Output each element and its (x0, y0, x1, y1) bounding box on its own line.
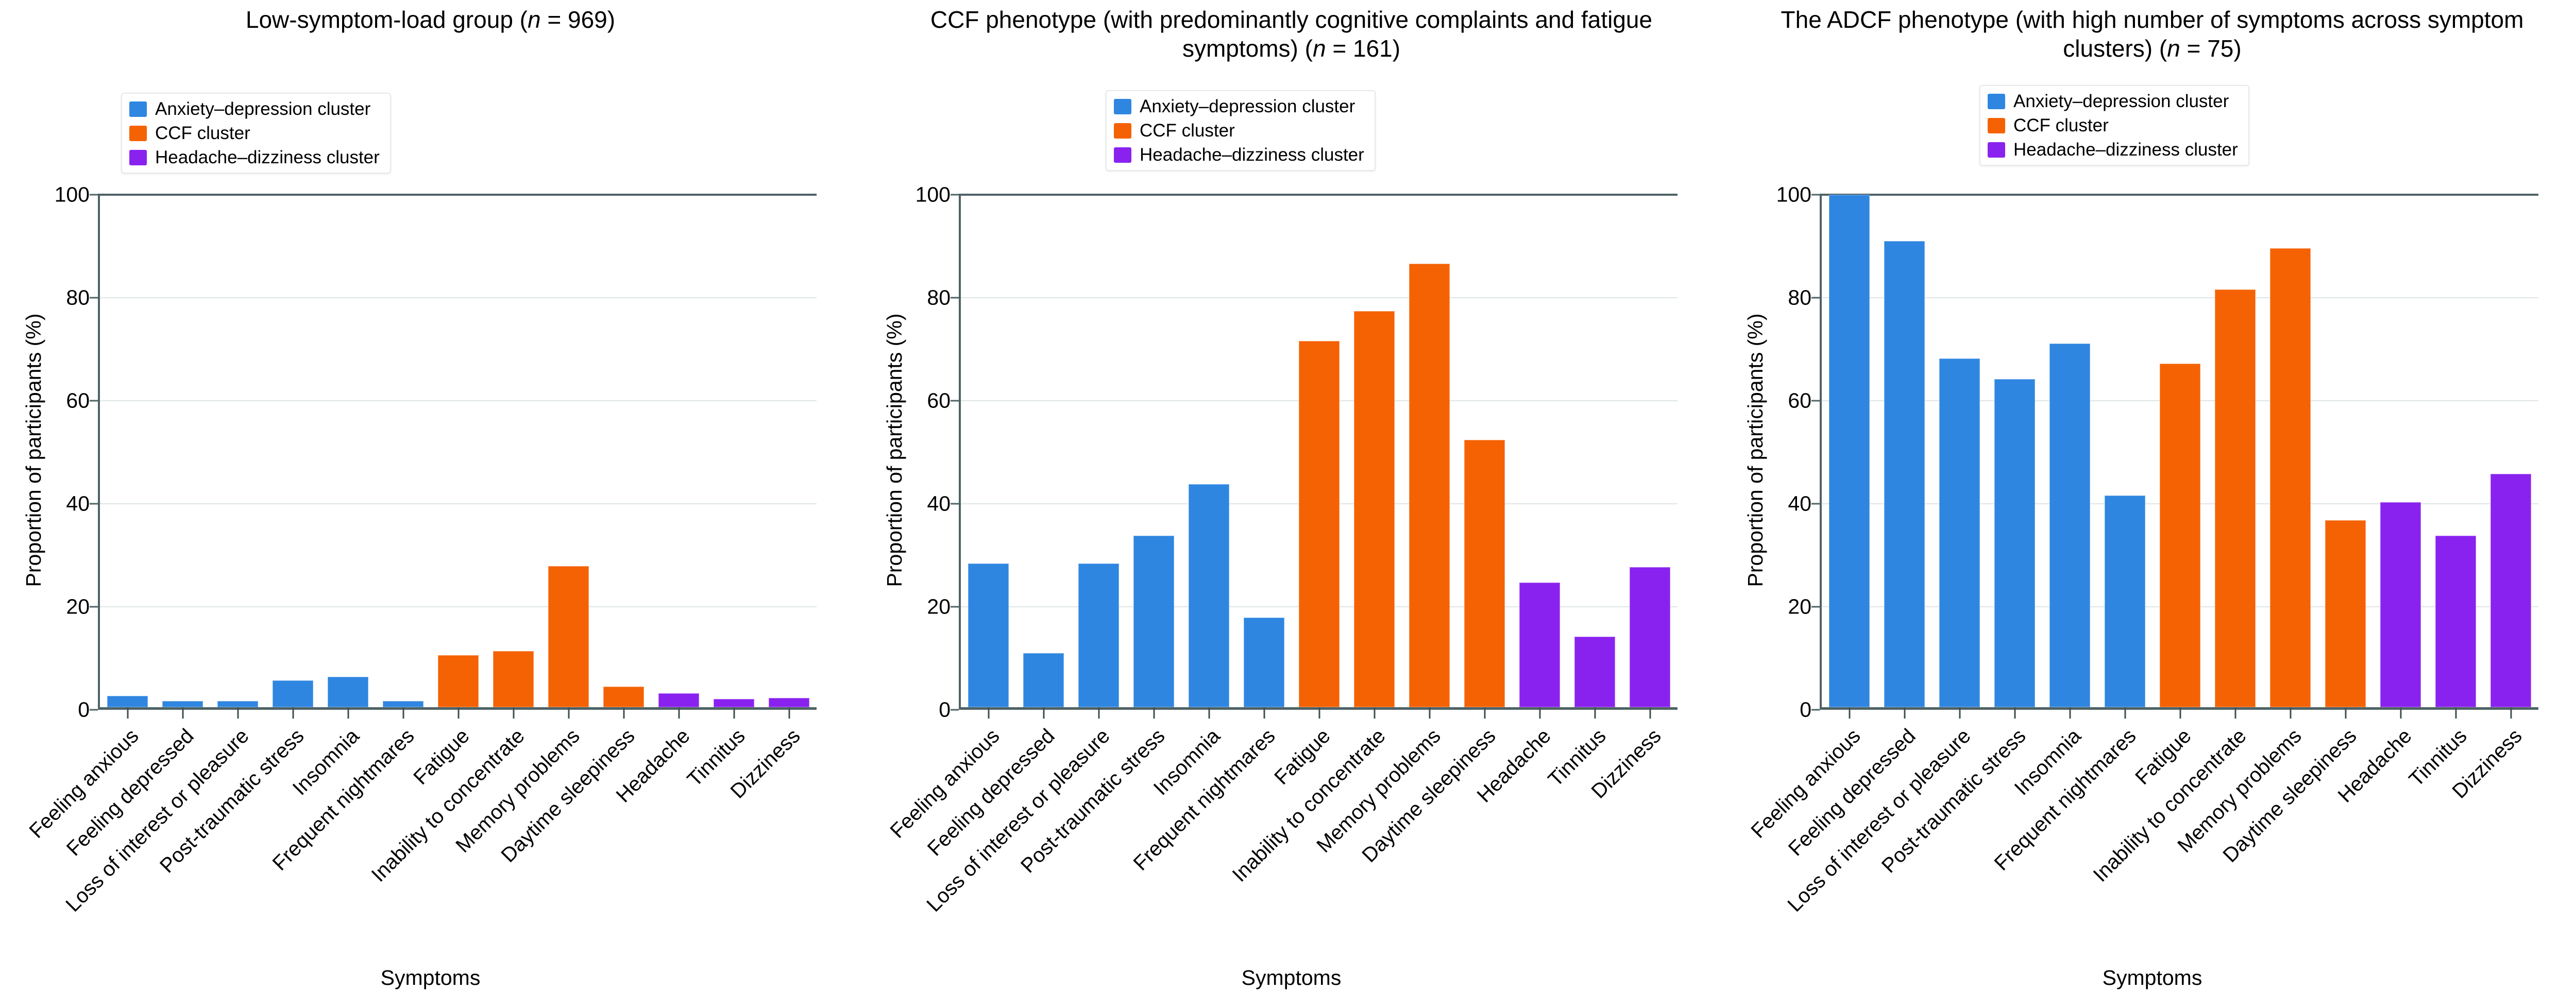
y-tick-label: 100 (55, 184, 90, 206)
y-tick-label: 40 (1788, 493, 1811, 515)
x-tick-mark (292, 707, 294, 719)
x-tick-mark (127, 707, 128, 719)
x-tick-mark (1153, 707, 1155, 719)
bar[interactable] (438, 655, 479, 707)
panel-ccf-phenotype: CCF phenotype (with predominantly cognit… (861, 0, 1722, 1007)
bar-slot[interactable] (761, 195, 817, 707)
bar[interactable] (769, 698, 809, 707)
x-tick-mark (1539, 707, 1540, 719)
bar-slot[interactable] (651, 195, 706, 707)
x-tick-mark (2124, 707, 2126, 719)
x-tick-mark (568, 707, 569, 719)
legend-label: Headache–dizziness cluster (1140, 146, 1364, 164)
legend-swatch-headache-dizziness-icon (129, 150, 147, 165)
bar-slot[interactable] (100, 195, 155, 707)
y-tick-mark (90, 400, 98, 402)
legend-swatch-headache-dizziness-icon (1988, 142, 2005, 158)
y-tick-label: 60 (927, 390, 951, 412)
legend-item-anxiety-depression: Anxiety–depression cluster (1114, 97, 1364, 115)
legend-swatch-anxiety-depression-icon (1114, 99, 1131, 114)
bar[interactable] (1299, 341, 1340, 707)
y-tick-mark (90, 194, 98, 196)
bar-slot[interactable] (376, 195, 431, 707)
legend: Anxiety–depression cluster CCF cluster H… (1979, 85, 2249, 166)
legend-item-ccf: CCF cluster (1988, 116, 2238, 134)
bar-slot[interactable] (596, 195, 651, 707)
bar-slot[interactable] (2373, 195, 2428, 707)
bar[interactable] (2215, 289, 2256, 707)
legend-label: CCF cluster (2013, 116, 2109, 134)
bar[interactable] (1354, 311, 1395, 707)
x-axis-title: Symptoms (1722, 966, 2576, 990)
bar-slot[interactable] (1402, 195, 1457, 707)
bar-slot[interactable] (2153, 195, 2208, 707)
y-tick-label: 60 (1788, 390, 1811, 412)
y-tick-label: 60 (66, 390, 90, 412)
x-tick-mark (1594, 707, 1596, 719)
bar[interactable] (493, 651, 534, 707)
y-tick-label: 100 (1776, 184, 1811, 206)
bar-series (100, 195, 817, 707)
x-tick-mark (1904, 707, 1905, 719)
bar-slot[interactable] (1622, 195, 1677, 707)
legend-label: Anxiety–depression cluster (2013, 92, 2229, 110)
bar-slot[interactable] (2483, 195, 2538, 707)
x-tick-mark (2455, 707, 2456, 719)
bar[interactable] (2105, 496, 2145, 707)
bar-slot[interactable] (265, 195, 320, 707)
y-tick-label: 80 (66, 287, 90, 309)
legend-label: CCF cluster (155, 124, 250, 142)
x-tick-mark (733, 707, 735, 719)
legend-label: Anxiety–depression cluster (155, 100, 370, 118)
bar[interactable] (1409, 264, 1450, 707)
plot-area: 020406080100 Feeling anxiousFeeling depr… (98, 195, 817, 710)
bar-slot[interactable] (1181, 195, 1236, 707)
legend-swatch-ccf-icon (129, 126, 147, 141)
legend-item-headache-dizziness: Headache–dizziness cluster (129, 148, 380, 166)
bar-slot[interactable] (1987, 195, 2042, 707)
y-tick-mark (951, 400, 959, 402)
bar[interactable] (217, 701, 258, 707)
legend-swatch-anxiety-depression-icon (1988, 94, 2005, 109)
y-tick-mark (90, 503, 98, 505)
y-tick-label: 0 (78, 699, 90, 721)
y-axis-title: Proportion of participants (%) (22, 194, 46, 707)
bar-slot[interactable] (2263, 195, 2318, 707)
bar[interactable] (383, 701, 423, 707)
y-tick-mark (1811, 709, 1820, 711)
bar-slot[interactable] (1347, 195, 1402, 707)
y-tick-mark (951, 503, 959, 505)
y-tick-mark (951, 194, 959, 196)
bar[interactable] (714, 699, 754, 707)
panel-title: Low-symptom-load group (n = 969) (0, 5, 861, 34)
bar[interactable] (1884, 241, 1925, 707)
x-axis-title: Symptoms (0, 966, 861, 990)
legend-label: Headache–dizziness cluster (155, 148, 380, 166)
bar-series (961, 195, 1677, 707)
bar[interactable] (603, 687, 644, 707)
y-tick-mark (1811, 400, 1820, 402)
bar[interactable] (1630, 567, 1670, 707)
y-tick-mark (1811, 194, 1820, 196)
x-tick-mark (2014, 707, 2015, 719)
bar[interactable] (1994, 379, 2035, 707)
bar-slot[interactable] (1822, 195, 1877, 707)
panel-title-after: = 969) (541, 6, 616, 33)
bar-slot[interactable] (2042, 195, 2097, 707)
bar[interactable] (2435, 536, 2476, 707)
y-tick-label: 100 (916, 184, 951, 206)
legend-item-anxiety-depression: Anxiety–depression cluster (1988, 92, 2238, 110)
legend-item-headache-dizziness: Headache–dizziness cluster (1988, 141, 2238, 159)
bar-slot[interactable] (541, 195, 596, 707)
bar-slot[interactable] (1932, 195, 1987, 707)
y-tick-mark (90, 606, 98, 608)
x-tick-mark (1429, 707, 1430, 719)
bar-slot[interactable] (431, 195, 486, 707)
legend: Anxiety–depression cluster CCF cluster H… (121, 93, 391, 174)
y-tick-mark (1811, 297, 1820, 299)
bar[interactable] (328, 677, 368, 707)
legend: Anxiety–depression cluster CCF cluster H… (1106, 90, 1376, 171)
legend-item-anxiety-depression: Anxiety–depression cluster (129, 100, 380, 118)
x-tick-mark (2290, 707, 2291, 719)
bar[interactable] (2049, 344, 2090, 707)
bar[interactable] (107, 696, 148, 707)
bar[interactable] (1464, 440, 1505, 707)
bar-slot[interactable] (320, 195, 376, 707)
y-tick-label: 0 (939, 699, 951, 721)
bar-slot[interactable] (1567, 195, 1622, 707)
y-tick-mark (951, 297, 959, 299)
y-tick-label: 40 (66, 493, 90, 515)
x-tick-mark (678, 707, 680, 719)
x-axis-title: Symptoms (861, 966, 1722, 990)
x-tick-mark (2345, 707, 2346, 719)
x-tick-mark (1263, 707, 1265, 719)
bar-slot[interactable] (155, 195, 210, 707)
bar[interactable] (2325, 520, 2366, 707)
bar[interactable] (162, 701, 203, 707)
x-tick-mark (1098, 707, 1099, 719)
legend-swatch-anxiety-depression-icon (129, 101, 147, 117)
panel-title-italic-n: n (2167, 35, 2180, 62)
x-tick-mark (347, 707, 349, 719)
y-tick-mark (1811, 503, 1820, 505)
bar[interactable] (1244, 618, 1284, 707)
y-tick-mark (1811, 606, 1820, 608)
y-tick-mark (951, 606, 959, 608)
panel-title-italic-n: n (528, 6, 541, 33)
panel-title-after: = 161) (1326, 35, 1401, 62)
x-tick-mark (788, 707, 790, 719)
y-tick-mark (90, 297, 98, 299)
panel-title-before: The ADCF phenotype (with high number of … (1781, 6, 2524, 62)
panel-low-symptom-load: Low-symptom-load group (n = 969) Anxiety… (0, 0, 861, 1007)
y-tick-label: 80 (927, 287, 951, 309)
legend-swatch-ccf-icon (1988, 118, 2005, 133)
bar-slot[interactable] (2318, 195, 2373, 707)
bar[interactable] (273, 680, 313, 707)
bar-slot[interactable] (1071, 195, 1126, 707)
panel-adcf-phenotype: The ADCF phenotype (with high number of … (1722, 0, 2576, 1007)
x-tick-mark (1208, 707, 1210, 719)
panel-title-italic-n: n (1313, 35, 1326, 62)
x-tick-mark (2179, 707, 2181, 719)
panel-title: The ADCF phenotype (with high number of … (1722, 5, 2576, 63)
y-axis-title: Proportion of participants (%) (1743, 194, 1768, 707)
legend-swatch-headache-dizziness-icon (1114, 147, 1131, 163)
y-tick-mark (90, 709, 98, 711)
legend-label: Anxiety–depression cluster (1140, 97, 1355, 115)
x-tick-mark (2400, 707, 2401, 719)
legend-swatch-ccf-icon (1114, 123, 1131, 139)
bar[interactable] (1519, 583, 1560, 707)
bar-slot[interactable] (1457, 195, 1512, 707)
y-axis-title: Proportion of participants (%) (883, 194, 907, 707)
panel-title-before: CCF phenotype (with predominantly cognit… (930, 6, 1652, 62)
x-tick-mark (457, 707, 459, 719)
bar[interactable] (2490, 474, 2531, 707)
legend-label: CCF cluster (1140, 122, 1235, 140)
bar-slot[interactable] (2097, 195, 2153, 707)
bar[interactable] (2270, 248, 2311, 707)
three-panel-bar-chart-figure: Low-symptom-load group (n = 969) Anxiety… (0, 0, 2576, 1007)
panel-title-before: Low-symptom-load group ( (246, 6, 528, 33)
x-tick-mark (2234, 707, 2236, 719)
y-tick-label: 20 (66, 596, 90, 618)
bar-slot[interactable] (1512, 195, 1567, 707)
x-tick-mark (182, 707, 183, 719)
bar[interactable] (1023, 653, 1064, 707)
x-tick-mark (1374, 707, 1375, 719)
y-tick-label: 20 (927, 596, 951, 618)
x-tick-mark (1043, 707, 1044, 719)
plot-area: 020406080100 Feeling anxiousFeeling depr… (1820, 195, 2538, 710)
x-tick-mark (2510, 707, 2512, 719)
x-tick-mark (237, 707, 239, 719)
y-tick-label: 40 (927, 493, 951, 515)
y-tick-label: 80 (1788, 287, 1811, 309)
y-tick-label: 20 (1788, 596, 1811, 618)
bar[interactable] (1574, 637, 1615, 707)
x-tick-mark (1649, 707, 1651, 719)
y-tick-mark (951, 709, 959, 711)
x-tick-mark (402, 707, 404, 719)
bar-slot[interactable] (1236, 195, 1292, 707)
bar[interactable] (658, 693, 699, 707)
x-tick-mark (513, 707, 514, 719)
bar-slot[interactable] (1016, 195, 1071, 707)
bar-slot[interactable] (210, 195, 265, 707)
bar[interactable] (2380, 502, 2421, 707)
bar-slot[interactable] (1877, 195, 1932, 707)
bar-slot[interactable] (486, 195, 541, 707)
bar[interactable] (1829, 195, 1870, 707)
legend-label: Headache–dizziness cluster (2013, 141, 2238, 159)
x-tick-mark (988, 707, 989, 719)
bar[interactable] (1133, 536, 1174, 707)
panel-title-after: = 75) (2180, 35, 2242, 62)
bar[interactable] (1078, 564, 1119, 707)
bar[interactable] (548, 566, 589, 707)
x-tick-mark (1959, 707, 1960, 719)
x-tick-mark (1849, 707, 1850, 719)
x-tick-mark (1318, 707, 1320, 719)
bar[interactable] (1189, 484, 1229, 707)
x-tick-mark (1484, 707, 1485, 719)
bar[interactable] (2160, 364, 2200, 707)
bar-slot[interactable] (961, 195, 1016, 707)
bar-slot[interactable] (1126, 195, 1181, 707)
bar-slot[interactable] (706, 195, 761, 707)
y-tick-label: 0 (1800, 699, 1811, 721)
bar[interactable] (968, 564, 1009, 707)
bar-series (1822, 195, 2538, 707)
legend-item-headache-dizziness: Headache–dizziness cluster (1114, 146, 1364, 164)
x-tick-mark (623, 707, 624, 719)
bar-slot[interactable] (2428, 195, 2483, 707)
bar-slot[interactable] (2208, 195, 2263, 707)
plot-area: 020406080100 Feeling anxiousFeeling depr… (959, 195, 1677, 710)
legend-item-ccf: CCF cluster (1114, 122, 1364, 140)
bar-slot[interactable] (1292, 195, 1347, 707)
bar[interactable] (1939, 359, 1980, 707)
x-tick-mark (2069, 707, 2071, 719)
panel-title: CCF phenotype (with predominantly cognit… (861, 5, 1722, 63)
legend-item-ccf: CCF cluster (129, 124, 380, 142)
